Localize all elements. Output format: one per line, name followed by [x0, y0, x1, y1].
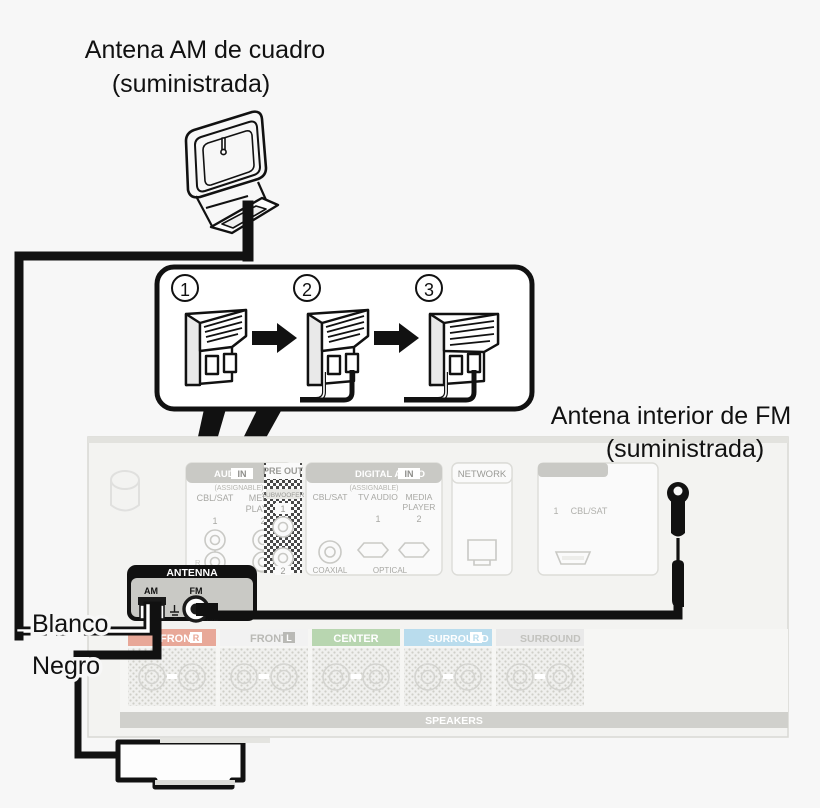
antenna-panel-title: ANTENNA	[166, 567, 218, 579]
digital-audio-type-optical: OPTICAL	[373, 566, 408, 575]
digital-audio-col-1-label: CBL/SAT	[313, 492, 348, 502]
speaker-terminal-front-r: FRONT R	[128, 629, 216, 706]
wire-label-negro: Negro	[32, 652, 100, 680]
speaker-terminal-surround-l: SURROUND	[496, 629, 584, 706]
speaker-terminals: FRONT R FRONT L	[120, 629, 788, 728]
digital-audio-type-coaxial: COAXIAL	[313, 566, 348, 575]
am-antenna-title-line1: Antena AM de cuadro	[85, 36, 325, 64]
pre-out-sub: SUBWOOFER	[262, 492, 305, 499]
section-hdmi: 1 CBL/SAT	[538, 463, 658, 575]
audio-in-jack-1-index: 1	[212, 516, 217, 526]
speaker-front-l-label: FRONT	[250, 633, 288, 645]
section-pre-out: PRE OUT SUBWOOFER 1 2	[262, 463, 305, 576]
fm-cable-plug	[196, 603, 218, 616]
speaker-surround-l-label: SURROUND	[520, 633, 581, 645]
speaker-terminal-front-l: FRONT L	[220, 629, 308, 706]
pre-out-title: PRE OUT	[263, 466, 304, 476]
speaker-surround-r-channel: R	[473, 633, 480, 643]
audio-in-subtitle: (ASSIGNABLE)	[214, 485, 263, 492]
callout-step-1-number: 1	[180, 280, 190, 300]
hdmi-port-1-index: 1	[553, 506, 558, 516]
speaker-terminal-surround-r: SURROUND R	[404, 629, 492, 706]
am-antenna-title-line2: (suministrada)	[112, 70, 270, 98]
digital-audio-col-3-index: 2	[416, 514, 421, 524]
digital-audio-badge: IN	[405, 469, 414, 479]
pre-out-1-index: 1	[280, 504, 285, 514]
am-base-lip	[155, 780, 235, 785]
hdmi-port-1-label: CBL/SAT	[571, 506, 608, 516]
speaker-front-l-channel: L	[286, 633, 292, 643]
callout-step-2-number: 2	[302, 280, 312, 300]
speaker-front-r-channel: R	[193, 633, 200, 643]
speaker-center-label: CENTER	[333, 633, 378, 645]
antenna-fm-label: FM	[190, 586, 203, 596]
fm-antenna-title-line1: Antena interior de FM	[551, 402, 791, 430]
digital-audio-col-2-label: TV AUDIO	[358, 492, 398, 502]
am-base-shadow	[160, 738, 270, 743]
speaker-terminal-center: CENTER	[312, 629, 400, 706]
fm-antenna-title-line2: (suministrada)	[606, 435, 764, 463]
audio-in-jack-1-label: CBL/SAT	[197, 493, 234, 503]
callout-step-3-number: 3	[424, 280, 434, 300]
audio-in-badge: IN	[238, 469, 247, 479]
wire-label-blanco: Blanco	[32, 610, 108, 638]
svg-text:MEDIA: MEDIA	[406, 492, 433, 502]
pre-out-2-index: 2	[280, 566, 285, 576]
digital-audio-col-2-index: 1	[375, 514, 380, 524]
svg-text:PLAYER: PLAYER	[403, 502, 436, 512]
section-network: NETWORK	[452, 463, 512, 575]
speakers-group-label: SPEAKERS	[425, 715, 483, 727]
network-title: NETWORK	[458, 469, 507, 480]
digital-audio-subtitle: (ASSIGNABLE)	[349, 485, 398, 492]
antenna-am-label: AM	[144, 586, 158, 596]
section-digital-audio: DIGITAL AUDIO IN (ASSIGNABLE) CBL/SAT TV…	[306, 463, 442, 575]
antenna-connection-diagram: Antena AM de cuadro (suministrada) 1	[0, 0, 820, 808]
